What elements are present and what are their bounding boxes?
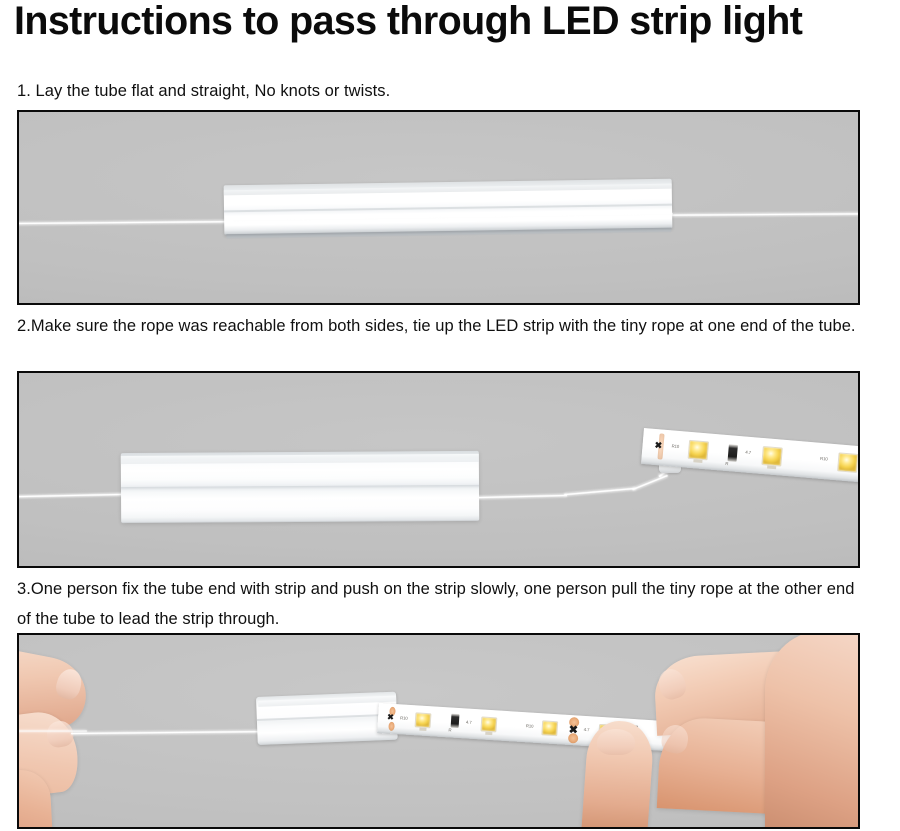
led-solder-pad [419,728,426,731]
led-channel-tube [224,179,673,236]
led-channel-tube [121,451,479,523]
led-chip [541,720,558,736]
led-solder-pad [693,459,702,463]
led-solder-pad [485,732,492,735]
step-2-instruction: 2.Make sure the rope was reachable from … [17,311,863,341]
figure-step-1 [17,110,860,305]
right-hand [559,633,860,829]
strip-copper-pad [388,722,395,731]
figure-step-3: ✖ R10 R 4.7 R10 ✖ 4.7 R 4.7 ✖ [17,633,860,829]
cut-mark-icon: ✖ [654,441,662,451]
figure-step-2: ✖ R10 R 4.7 R10 [17,371,860,568]
led-channel-tube [256,692,398,745]
strip-label-resistor-2: 4.7 [466,721,472,726]
led-chip [837,452,859,473]
led-chip [480,716,497,732]
led-chip [688,440,710,461]
page-title: Instructions to pass through LED strip l… [14,0,879,44]
strip-label-resistor-3: R10 [526,724,534,729]
cut-mark-icon: ✖ [387,714,394,722]
right-hand-pushing-nail [597,729,635,755]
strip-label-component: R [725,462,728,467]
led-chip [761,446,783,467]
led-solder-pad [767,465,776,469]
led-chip [415,712,432,728]
step-1-instruction: 1. Lay the tube flat and straight, No kn… [17,76,877,106]
right-hand-knuckles [765,633,860,829]
strip-label-resistor-1: R10 [671,444,679,449]
step-3-instruction: 3.One person fix the tube end with strip… [17,574,869,634]
resistor-component [728,444,738,462]
resistor-component [451,714,460,728]
strip-label-resistor-1: R10 [400,716,408,721]
strip-label-resistor-2: 4.7 [745,451,751,456]
strip-label-component: R [448,728,451,732]
strip-label-resistor-3: R10 [820,457,828,462]
